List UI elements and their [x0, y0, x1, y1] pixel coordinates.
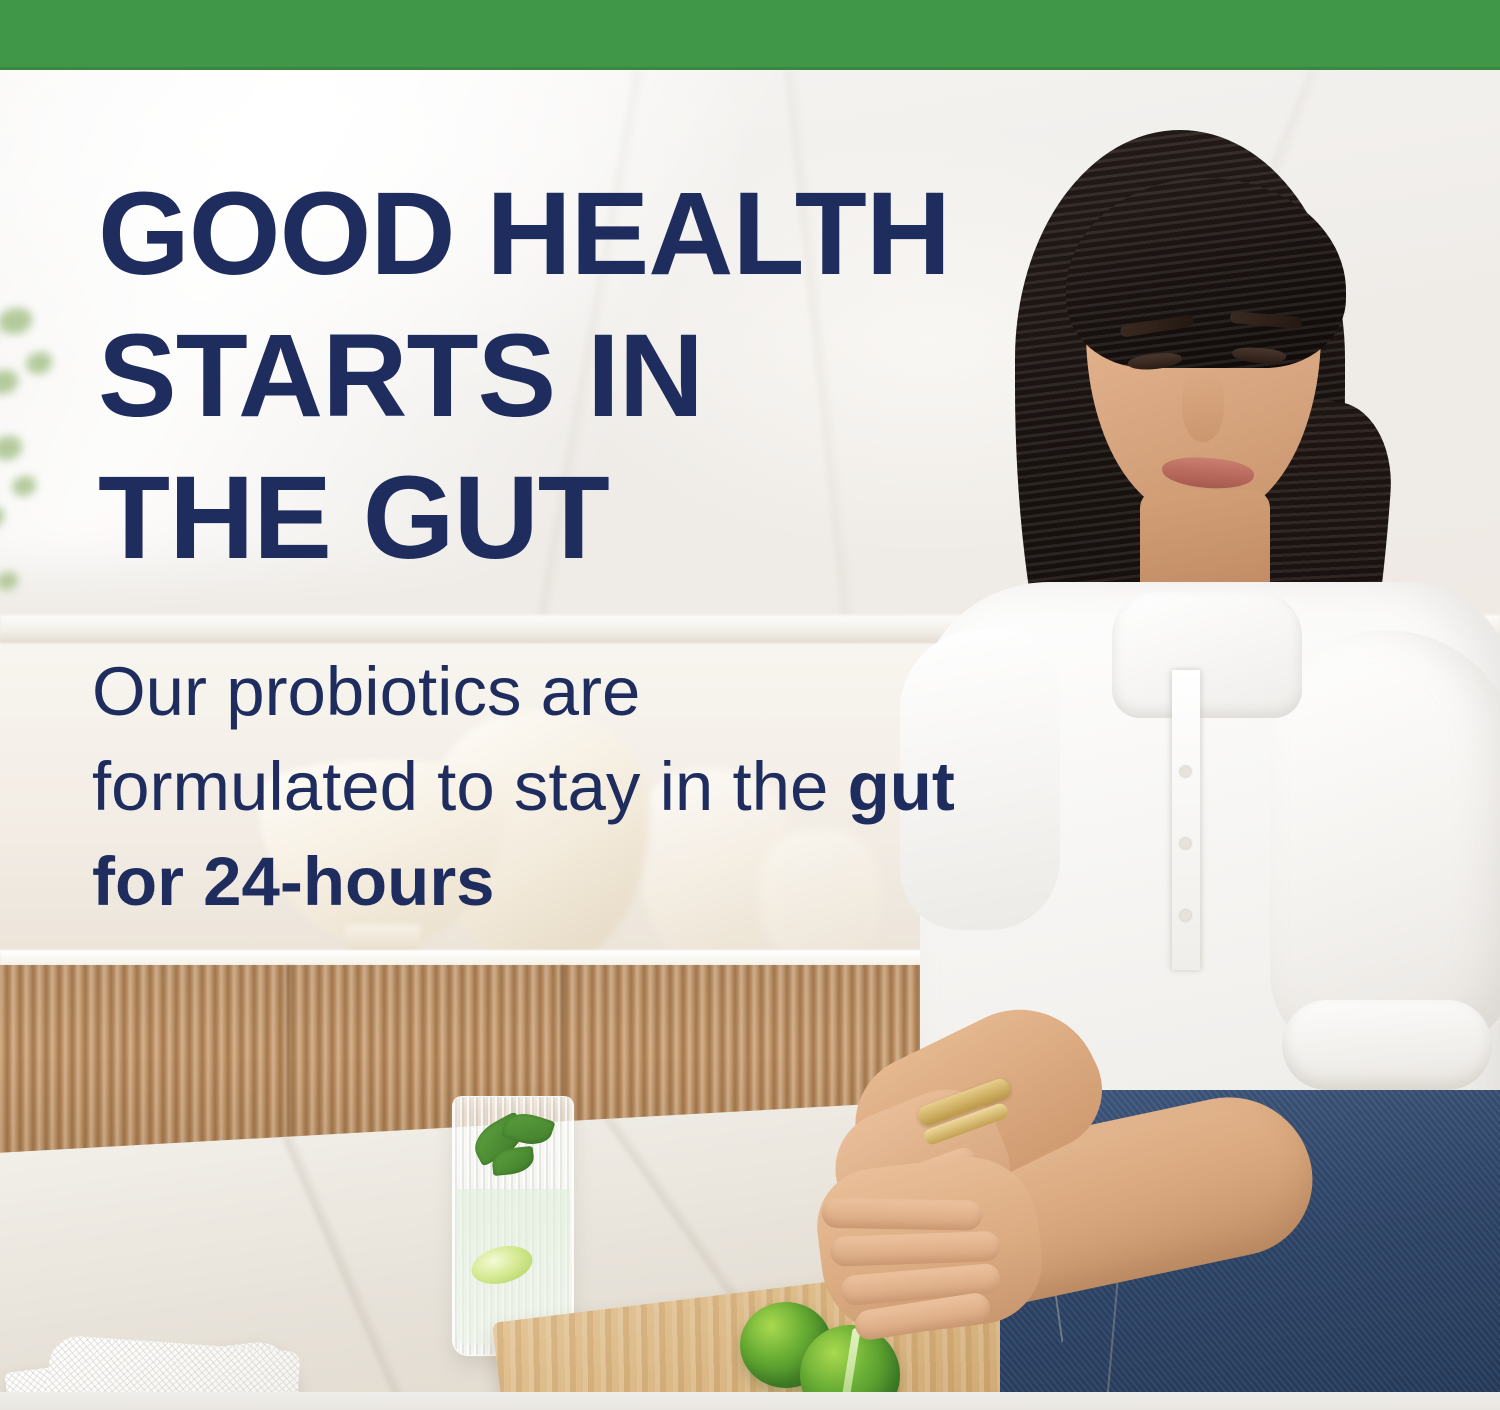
mint-sprig-icon	[448, 1112, 578, 1192]
sleeve-cuff	[1282, 1000, 1492, 1090]
nose	[1182, 370, 1224, 442]
person-woman	[800, 70, 1500, 1410]
blouse-placket	[1172, 670, 1200, 970]
puff-sleeve	[1270, 630, 1500, 1060]
blouse-collar	[1112, 592, 1302, 718]
top-accent-bar	[0, 0, 1500, 70]
bottom-strip	[0, 1392, 1500, 1410]
promo-banner: GOOD HEALTH STARTS IN THE GUT Our probio…	[0, 0, 1500, 1410]
plant-sprig-icon	[0, 300, 190, 640]
sleeve-left	[900, 630, 1060, 930]
lifestyle-photo	[0, 70, 1500, 1410]
